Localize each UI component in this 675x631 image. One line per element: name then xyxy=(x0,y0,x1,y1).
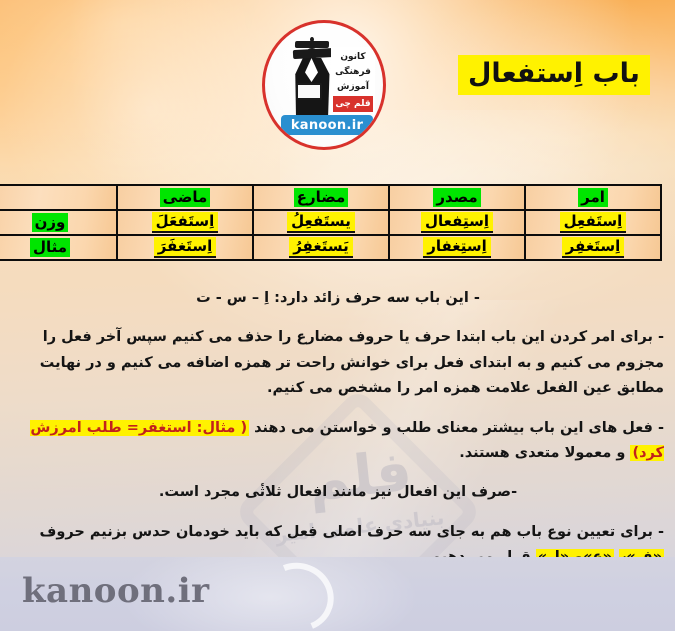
table-header-cell-2: مضارع xyxy=(253,185,389,210)
cell-value-mesal-amr: اِستَغفِر xyxy=(562,237,625,258)
notes-container: - این باب سه حرف زائد دارد: اِ – س - ت -… xyxy=(12,286,664,570)
table-header-label-2: مضارع xyxy=(294,188,349,207)
row-label-text-vazn: وزن xyxy=(32,213,69,232)
cell-value-mesal-masdar: اِستِغفار xyxy=(423,237,491,258)
cell-value-vazn-amr: اِستَفعِل xyxy=(560,212,627,233)
page-title: باب اِستفعال xyxy=(458,55,650,95)
row-label-text-mesal: مثال xyxy=(30,238,70,257)
note-meaning-text-0: - فعل های این باب بیشتر معنای طلب و خواس… xyxy=(249,420,664,436)
cell-value-vazn-mazi: اِستَفعَلَ xyxy=(152,212,219,233)
table-row-label-vazn: وزن xyxy=(0,210,117,235)
table-cell-vazn-mozare: یستَفعِلُ xyxy=(253,210,389,235)
note-extra-letters-text-0: - این باب سه حرف زائد دارد: اِ – س - ت xyxy=(196,290,480,306)
slide-header: کانون فرهنگی آموزش قلم چی kanoon.ir باب … xyxy=(0,0,675,160)
table-header-label-0: امر xyxy=(578,188,608,207)
note-imperative-formation: - برای امر کردن این باب ابتدا حرف یا حرو… xyxy=(12,325,664,401)
table-cell-vazn-masdar: اِستِفعال xyxy=(389,210,525,235)
table-row-label-mesal: مثال xyxy=(0,235,117,260)
logo-text-line-3: آموزش xyxy=(333,83,373,92)
cell-value-mesal-mozare: یَستَغفِرُ xyxy=(289,237,353,258)
note-conjugation: -صرف این افعال نیز مانند افعال ثلاثٔی مج… xyxy=(12,480,664,505)
table-header-cell-3: ماضی xyxy=(117,185,253,210)
conjugation-table-wrapper: امر مصدر مضارع ماضی اِستَفعِل xyxy=(14,184,662,261)
note-conjugation-text-0: -صرف این افعال نیز مانند افعال ثلاثٔی مج… xyxy=(159,484,517,500)
logo-text-line-1: کانون xyxy=(333,53,373,62)
note-meaning-text-2: و معمولا متعدی هستند. xyxy=(459,445,630,461)
conjugation-table: امر مصدر مضارع ماضی اِستَفعِل xyxy=(0,184,662,261)
table-header-label-3: ماضی xyxy=(160,188,211,207)
conjugation-table-body: امر مصدر مضارع ماضی اِستَفعِل xyxy=(0,185,661,260)
cell-value-mesal-mazi: اِستَغفَرَ xyxy=(154,237,217,258)
table-header-cell-corner xyxy=(0,185,117,210)
footer-brand: kanoon.ir xyxy=(22,571,210,611)
note-root-letters-text-0: - برای تعیین نوع باب هم به جای سه حرف اص… xyxy=(40,524,664,540)
note-imperative-formation-text-0: - برای امر کردن این باب ابتدا حرف یا حرو… xyxy=(40,329,664,396)
slide-footer: kanoon.ir xyxy=(0,557,675,631)
cell-value-vazn-mozare: یستَفعِلُ xyxy=(287,212,355,233)
logo-inner: کانون فرهنگی آموزش قلم چی kanoon.ir xyxy=(265,23,383,147)
table-cell-vazn-amr: اِستَفعِل xyxy=(525,210,661,235)
table-header-cell-0: امر xyxy=(525,185,661,210)
note-extra-letters: - این باب سه حرف زائد دارد: اِ – س - ت xyxy=(12,286,664,311)
table-row-vazn: اِستَفعِل اِستِفعال یستَفعِلُ اِستَفعَلَ… xyxy=(0,210,661,235)
slide-canvas: فلم بنیادی علمی امیر کانون فرهنگی آم xyxy=(0,0,675,631)
table-cell-mesal-mazi: اِستَغفَرَ xyxy=(117,235,253,260)
table-row-mesal: اِستَغفِر اِستِغفار یَستَغفِرُ اِستَغفَر… xyxy=(0,235,661,260)
cell-value-vazn-masdar: اِستِفعال xyxy=(421,212,493,233)
logo-badge-ghalamchi: قلم چی xyxy=(333,96,373,112)
table-header-row: امر مصدر مضارع ماضی xyxy=(0,185,661,210)
table-header-cell-1: مصدر xyxy=(389,185,525,210)
book-icon xyxy=(296,83,322,100)
table-header-label-1: مصدر xyxy=(433,188,480,207)
kanoon-logo: کانون فرهنگی آموزش قلم چی kanoon.ir xyxy=(262,20,386,150)
graduation-cap-icon xyxy=(295,41,329,48)
cap-knot-icon xyxy=(310,37,314,42)
table-cell-vazn-mazi: اِستَفعَلَ xyxy=(117,210,253,235)
table-cell-mesal-mozare: یَستَغفِرُ xyxy=(253,235,389,260)
table-cell-mesal-masdar: اِستِغفار xyxy=(389,235,525,260)
note-meaning: - فعل های این باب بیشتر معنای طلب و خواس… xyxy=(12,416,664,467)
logo-website-pill: kanoon.ir xyxy=(281,115,373,135)
table-cell-mesal-amr: اِستَغفِر xyxy=(525,235,661,260)
logo-text-line-2: فرهنگی xyxy=(333,68,373,77)
